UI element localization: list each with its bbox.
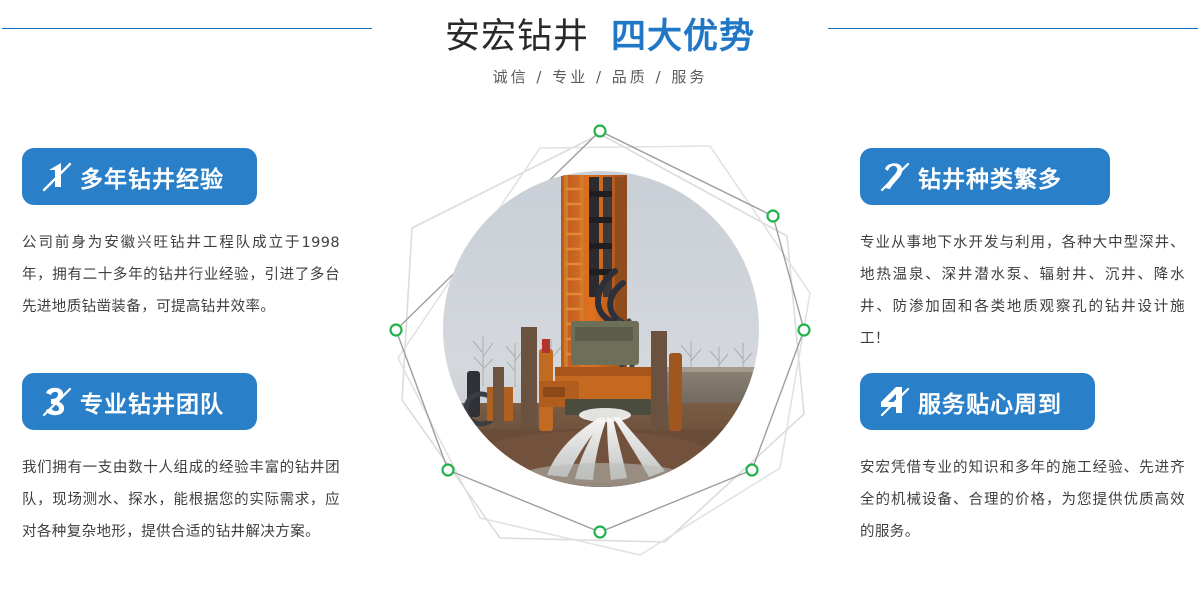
feature-body-2: 专业从事地下水开发与利用，各种大中型深井、地热温泉、深井潜水泵、辐射井、沉井、降… — [860, 227, 1185, 355]
feature-body-3: 我们拥有一支由数十人组成的经验丰富的钻井团队，现场测水、探水，能根据您的实际需求… — [22, 452, 340, 548]
feature-card-2: 钻井种类繁多 专业从事地下水开发与利用，各种大中型深井、地热温泉、深井潜水泵、辐… — [860, 148, 1200, 355]
number-2-icon — [874, 157, 914, 197]
page-subtitle: 诚信 / 专业 / 品质 / 服务 — [0, 66, 1200, 87]
drilling-rig-photo — [443, 171, 759, 487]
page-header: 安宏钻井四大优势 诚信 / 专业 / 品质 / 服务 — [0, 0, 1200, 110]
feature-title-4: 服务贴心周到 — [918, 385, 1062, 419]
node-icon — [799, 325, 810, 336]
drilling-rig-illustration — [443, 171, 759, 487]
page-title: 安宏钻井四大优势 — [0, 8, 1200, 59]
feature-title-1: 多年钻井经验 — [80, 160, 224, 194]
feature-badge-1[interactable]: 多年钻井经验 — [22, 148, 257, 205]
node-icon — [443, 465, 454, 476]
feature-title-2: 钻井种类繁多 — [918, 160, 1062, 194]
feature-body-1: 公司前身为安徽兴旺钻井工程队成立于1998年，拥有二十多年的钻井行业经验，引进了… — [22, 227, 340, 323]
feature-badge-3[interactable]: 专业钻井团队 — [22, 373, 257, 430]
node-icon — [595, 126, 606, 137]
feature-card-1: 多年钻井经验 公司前身为安徽兴旺钻井工程队成立于1998年，拥有二十多年的钻井行… — [22, 148, 357, 323]
node-icon — [391, 325, 402, 336]
promo-page: 安宏钻井四大优势 诚信 / 专业 / 品质 / 服务 — [0, 0, 1200, 600]
feature-badge-4[interactable]: 服务贴心周到 — [860, 373, 1095, 430]
number-3-icon — [36, 382, 76, 422]
node-icon — [768, 211, 779, 222]
number-4-icon — [874, 382, 914, 422]
feature-body-4: 安宏凭借专业的知识和多年的施工经验、先进齐全的机械设备、合理的价格，为您提供优质… — [860, 452, 1185, 548]
title-brand: 安宏钻井 — [445, 17, 589, 57]
node-icon — [747, 465, 758, 476]
feature-title-3: 专业钻井团队 — [80, 385, 224, 419]
feature-card-4: 服务贴心周到 安宏凭借专业的知识和多年的施工经验、先进齐全的机械设备、合理的价格… — [860, 373, 1200, 548]
title-highlight: 四大优势 — [611, 17, 755, 57]
feature-card-3: 专业钻井团队 我们拥有一支由数十人组成的经验丰富的钻井团队，现场测水、探水，能根… — [22, 373, 357, 548]
number-1-icon — [36, 157, 76, 197]
center-graphic — [380, 118, 820, 558]
node-icon — [595, 527, 606, 538]
feature-badge-2[interactable]: 钻井种类繁多 — [860, 148, 1110, 205]
